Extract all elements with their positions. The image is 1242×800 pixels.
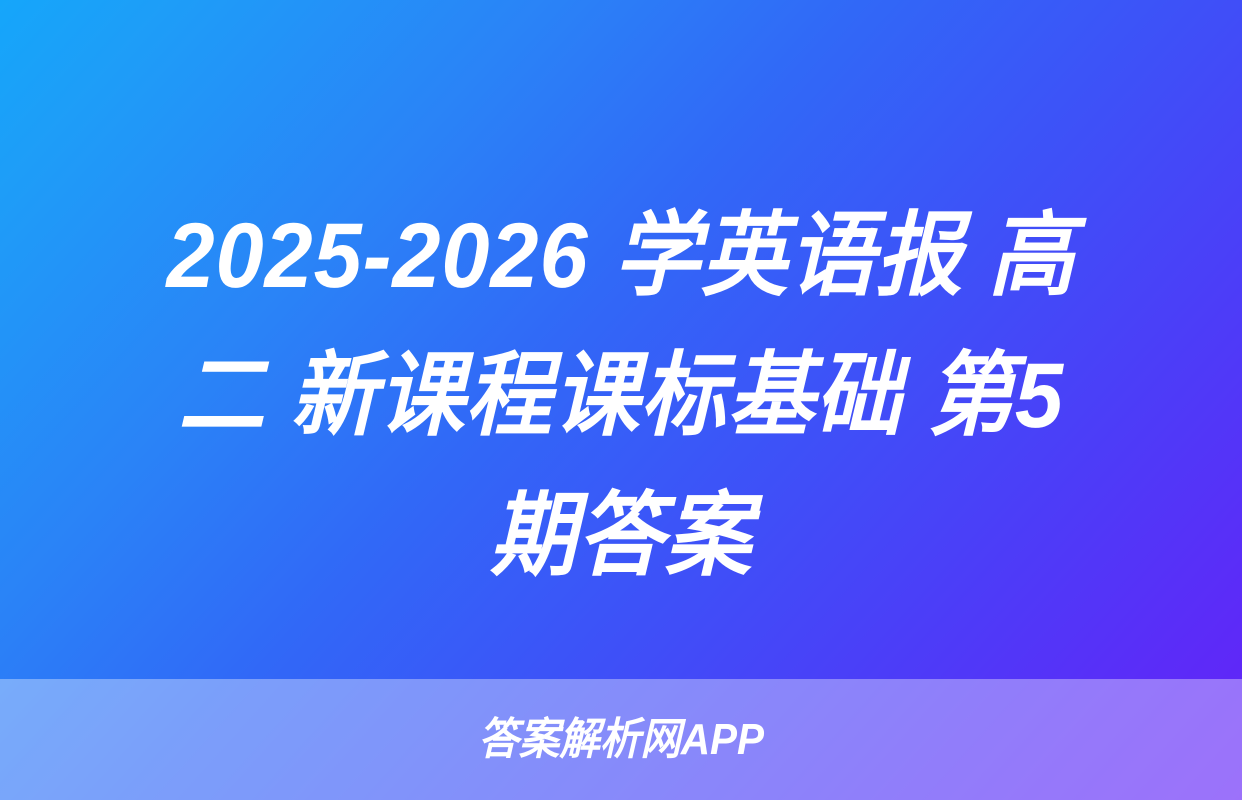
brand-label: 答案解析网APP	[478, 716, 764, 764]
title-line-3: 期答案	[69, 466, 1173, 606]
title-line-1: 2025-2026 学英语报 高	[69, 186, 1173, 326]
cover-banner: 2025-2026 学英语报 高 二 新课程课标基础 第5 期答案 答案解析网A…	[0, 0, 1242, 800]
title-line-2: 二 新课程课标基础 第5	[69, 326, 1173, 466]
footer-brand-band: 答案解析网APP	[0, 679, 1242, 800]
page-title: 2025-2026 学英语报 高 二 新课程课标基础 第5 期答案	[0, 186, 1242, 606]
